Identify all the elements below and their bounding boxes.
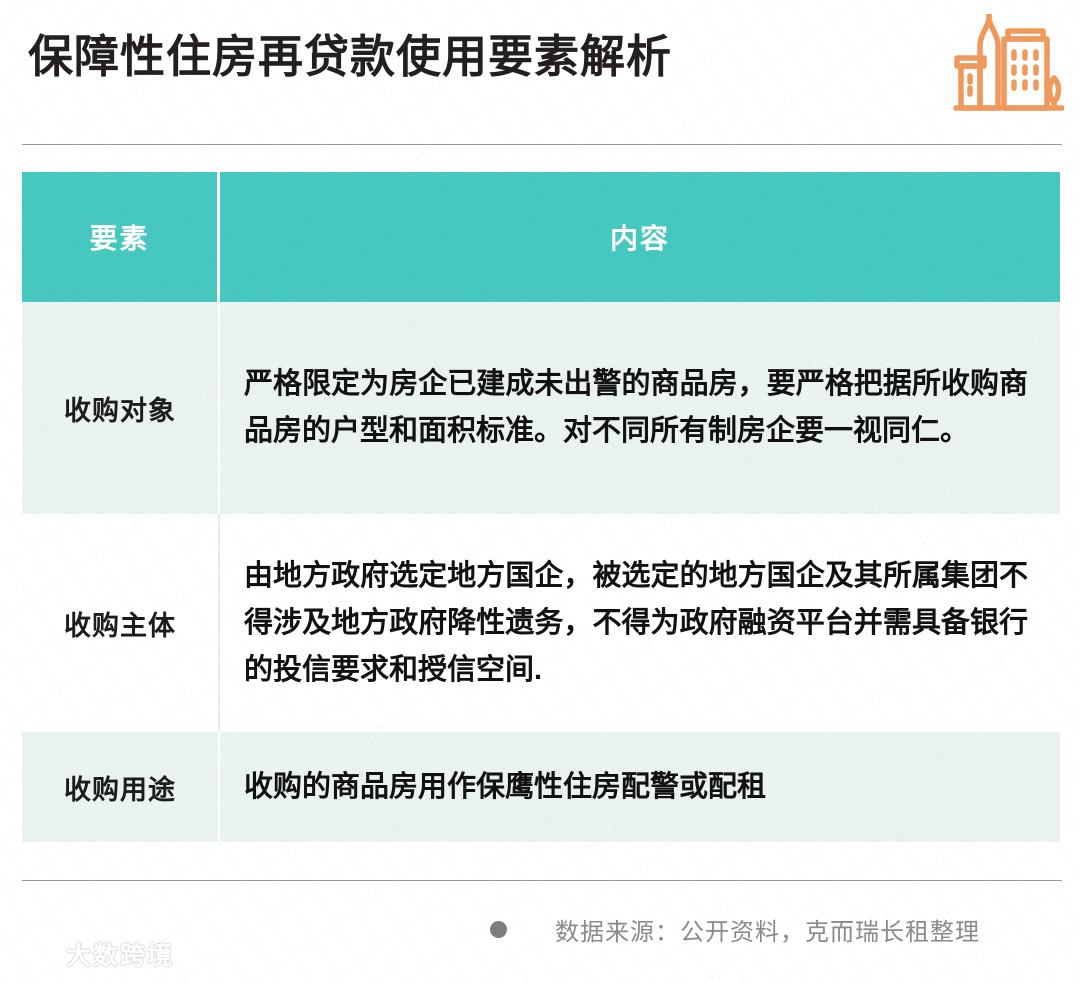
column-header-content: 内容 bbox=[610, 217, 670, 257]
table-header-cell-content: 内容 bbox=[220, 172, 1060, 302]
page-title: 保障性住房再贷款使用要素解析 bbox=[28, 27, 672, 87]
buildings-icon bbox=[944, 14, 1064, 126]
row-label: 收购用途 bbox=[64, 768, 176, 807]
brand-watermark: 大数跨境 bbox=[14, 936, 174, 972]
table-row: 收购主体 由地方政府选定地方国企，被选定的地方国企及其所属集团不得涉及地方政府降… bbox=[22, 514, 1060, 732]
table-cell-element: 收购用途 bbox=[22, 732, 220, 842]
page-header: 保障性住房再贷款使用要素解析 bbox=[0, 0, 1080, 146]
row-content: 由地方政府选定地方国企，被选定的地方国企及其所属集团不得涉及地方政府降性遗务，不… bbox=[244, 553, 1028, 694]
brand-logo-icon bbox=[14, 939, 58, 969]
bullet-dot-icon bbox=[490, 921, 507, 938]
table-cell-content: 严格限定为房企已建成未出警的商品房，要严格把据所收购商品房的户型和面积标准。对不… bbox=[220, 302, 1060, 514]
table-cell-content: 由地方政府选定地方国企，被选定的地方国企及其所属集团不得涉及地方政府降性遗务，不… bbox=[220, 514, 1060, 732]
source-text: 数据来源：公开资料，克而瑞长租整理 bbox=[555, 912, 980, 947]
row-label: 收购对象 bbox=[64, 389, 176, 428]
table-header-row: 要素 内容 bbox=[22, 172, 1060, 302]
table-row: 收购对象 严格限定为房企已建成未出警的商品房，要严格把据所收购商品房的户型和面积… bbox=[22, 302, 1060, 514]
table-header-cell-element: 要素 bbox=[22, 172, 220, 302]
brand-name: 大数跨境 bbox=[66, 936, 174, 972]
table-cell-content: 收购的商品房用作保鹰性住房配警或配租 bbox=[220, 732, 1060, 842]
row-content: 严格限定为房企已建成未出警的商品房，要严格把据所收购商品房的户型和面积标准。对不… bbox=[244, 361, 1028, 455]
elements-table: 要素 内容 收购对象 严格限定为房企已建成未出警的商品房，要严格把据所收购商品房… bbox=[22, 172, 1060, 842]
column-header-element: 要素 bbox=[89, 217, 149, 257]
footer-divider bbox=[22, 880, 1062, 881]
header-divider bbox=[22, 144, 1062, 145]
row-content: 收购的商品房用作保鹰性住房配警或配租 bbox=[244, 767, 766, 807]
table-cell-element: 收购主体 bbox=[22, 514, 220, 732]
table-cell-element: 收购对象 bbox=[22, 302, 220, 514]
row-label: 收购主体 bbox=[64, 604, 176, 643]
table-row: 收购用途 收购的商品房用作保鹰性住房配警或配租 bbox=[22, 732, 1060, 842]
